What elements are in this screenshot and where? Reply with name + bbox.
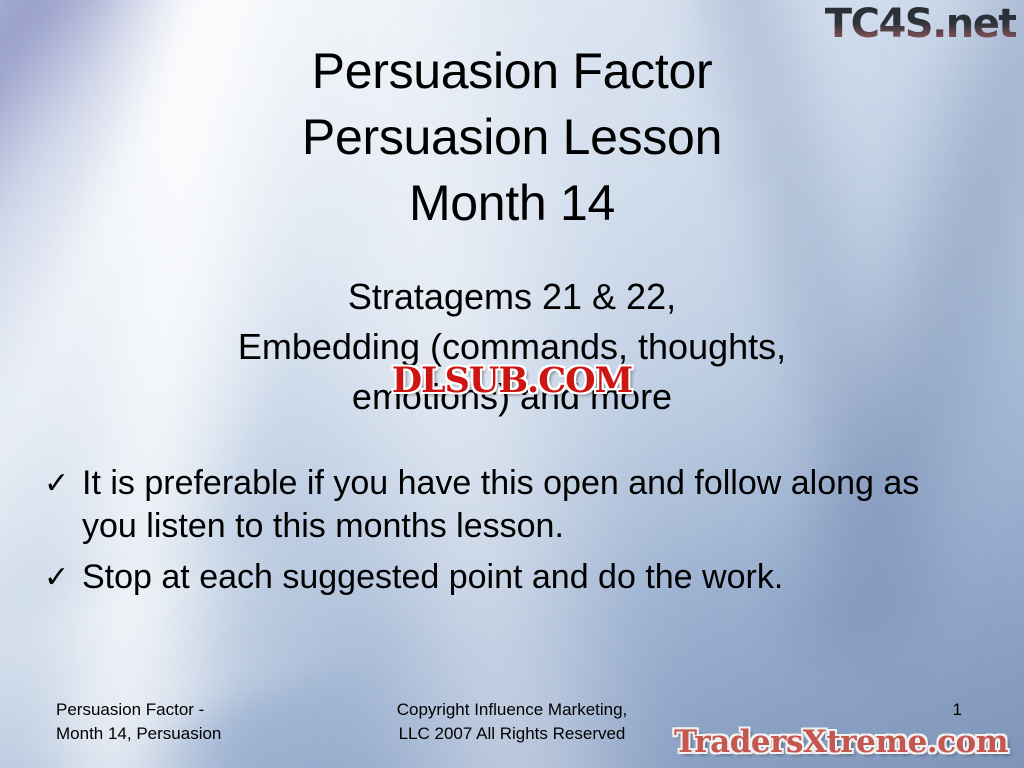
footer-copyright-line-1: Copyright Influence Marketing, <box>0 698 1024 722</box>
list-item: ✓ It is preferable if you have this open… <box>44 462 980 548</box>
subtitle-line-1: Stratagems 21 & 22, <box>0 272 1024 322</box>
checkmark-icon: ✓ <box>44 462 82 505</box>
page-number: 1 <box>953 700 962 720</box>
title-line-1: Persuasion Factor <box>0 38 1024 104</box>
title-line-3: Month 14 <box>0 170 1024 236</box>
bullet-list: ✓ It is preferable if you have this open… <box>44 462 980 607</box>
list-item-text: It is preferable if you have this open a… <box>82 462 980 548</box>
tc4s-watermark: TC4S.net <box>825 2 1016 46</box>
dlsub-watermark: DLSUB.COM <box>392 362 633 400</box>
list-item: ✓ Stop at each suggested point and do th… <box>44 556 980 599</box>
slide-title: Persuasion Factor Persuasion Lesson Mont… <box>0 38 1024 236</box>
tradersxtreme-logo: TradersXtreme.com <box>674 724 1008 760</box>
list-item-text: Stop at each suggested point and do the … <box>82 556 980 599</box>
checkmark-icon: ✓ <box>44 556 82 599</box>
title-line-2: Persuasion Lesson <box>0 104 1024 170</box>
slide-canvas: Persuasion Factor Persuasion Lesson Mont… <box>0 0 1024 768</box>
